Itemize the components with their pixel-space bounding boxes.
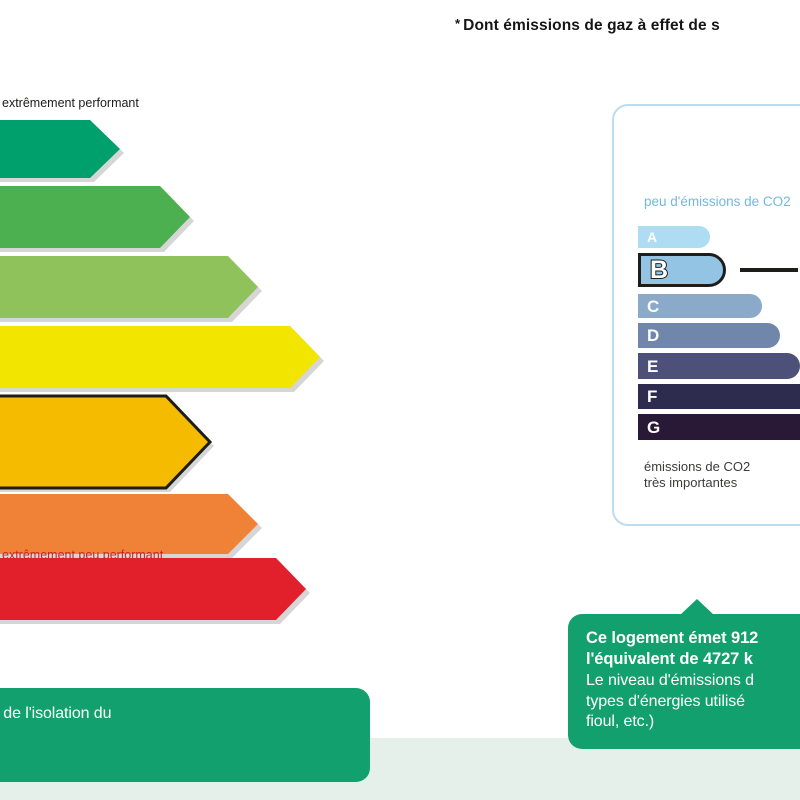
co2-bar-g: G: [638, 414, 800, 440]
callout-energy-line-2: des équipements.: [0, 725, 352, 746]
energy-scale-top-label: extrêmement performant: [2, 96, 139, 110]
callout-co2-line-1: Ce logement émet 912: [586, 628, 800, 649]
co2-row-a: A: [638, 226, 800, 248]
co2-bar-c: C: [638, 294, 762, 318]
footnote-header: *Dont émissions de gaz à effet de s: [455, 16, 800, 35]
energy-arrow-f: [0, 494, 258, 554]
footnote-asterisk: *: [455, 16, 460, 31]
callout-co2-info: Ce logement émet 912l'équivalent de 4727…: [568, 614, 800, 749]
co2-letter-f: F: [647, 388, 657, 405]
co2-emissions-panel: peu d'émissions de CO2 AB8CDEFG émission…: [612, 104, 800, 526]
energy-arrow-shape: [0, 186, 196, 254]
callout-energy-info: ergétique dépend de l'isolation dudes éq…: [0, 688, 370, 782]
co2-panel-footer: émissions de CO2 très importantes: [644, 459, 750, 492]
co2-bar-e: E: [638, 353, 800, 379]
co2-row-c: C: [638, 294, 800, 318]
callout-pointer: [680, 599, 714, 615]
callout-energy-line-1: ergétique dépend de l'isolation du: [0, 704, 352, 725]
energy-scale-bottom-label: extrêmement peu performant: [2, 548, 163, 562]
energy-arrow-b: [0, 186, 190, 248]
co2-footer-line-2: très importantes: [644, 475, 750, 492]
energy-arrow-shape: [0, 256, 264, 324]
energy-arrow-a: [0, 120, 120, 178]
energy-arrow-shape: [0, 120, 126, 184]
callout-co2-line-5: fioul, etc.): [586, 712, 800, 733]
co2-letter-g: G: [647, 419, 660, 436]
callout-energy-info-text: ergétique dépend de l'isolation dudes éq…: [0, 704, 352, 766]
co2-panel-title: peu d'émissions de CO2: [644, 194, 791, 209]
co2-row-b: B8: [638, 253, 800, 287]
co2-letter-b: B: [650, 258, 668, 283]
co2-bar-f: F: [638, 384, 800, 409]
dpe-screenshot: *Dont émissions de gaz à effet de s extr…: [0, 0, 800, 800]
energy-arrow-e: [0, 396, 210, 488]
energy-arrow-shape: [0, 558, 312, 626]
energy-arrow-c: [0, 256, 258, 318]
callout-co2-line-4: types d'énergies utilisé: [586, 692, 800, 713]
co2-value-connector: [740, 268, 798, 272]
co2-row-e: E: [638, 353, 800, 379]
co2-row-f: F: [638, 384, 800, 409]
co2-letter-c: C: [647, 298, 659, 315]
energy-arrow-d: [0, 326, 320, 388]
co2-bar-b: B: [638, 253, 726, 287]
energy-arrow-shape: [0, 396, 216, 494]
callout-co2-info-text: Ce logement émet 912l'équivalent de 4727…: [586, 628, 800, 733]
callout-co2-line-2: l'équivalent de 4727 k: [586, 649, 800, 670]
co2-row-d: D: [638, 323, 800, 348]
co2-footer-line-1: émissions de CO2: [644, 459, 750, 476]
energy-performance-scale: extrêmement performant extrêmement peu p…: [0, 96, 320, 576]
co2-letter-e: E: [647, 358, 658, 375]
co2-bar-a: A: [638, 226, 710, 248]
callout-co2-line-3: Le niveau d'émissions d: [586, 671, 800, 692]
callout-energy-line-3: 6: [0, 746, 352, 767]
co2-letter-d: D: [647, 327, 659, 344]
energy-arrow-shape: [0, 326, 326, 394]
co2-row-g: G: [638, 414, 800, 440]
co2-bar-d: D: [638, 323, 780, 348]
co2-bar-group: AB8CDEFG: [638, 226, 800, 445]
co2-letter-a: A: [647, 230, 657, 244]
energy-arrow-g: [0, 558, 306, 620]
footnote-text: Dont émissions de gaz à effet de s: [463, 17, 720, 34]
